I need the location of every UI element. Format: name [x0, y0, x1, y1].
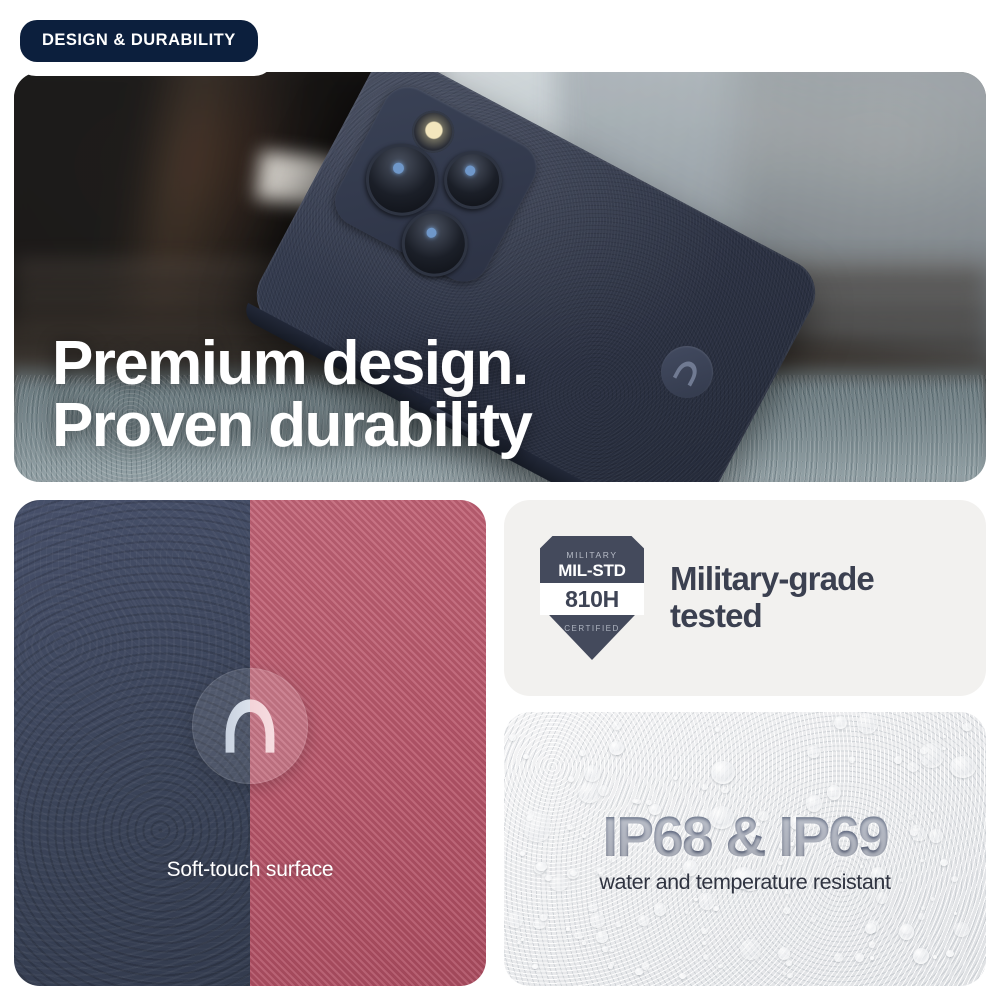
- military-title-line-1: Military-grade: [670, 561, 874, 598]
- military-title-line-2: tested: [670, 598, 874, 635]
- hero-headline: Premium design. Proven durability: [52, 333, 531, 456]
- mil-std-shield-icon: MILITARY MIL-STD 810H CERTIFIED: [540, 536, 644, 660]
- ip-rating-subtitle: water and temperature resistant: [504, 870, 986, 895]
- hero-headline-line-1: Premium design.: [52, 333, 531, 394]
- shield-top-label: MILITARY: [540, 550, 644, 560]
- section-badge: DESIGN & DURABILITY: [20, 20, 258, 62]
- shield-standard-label: MIL-STD: [540, 561, 644, 581]
- hero-headline-line-2: Proven durability: [52, 395, 531, 456]
- motorola-emblem-icon: [192, 668, 308, 784]
- soft-touch-caption: Soft-touch surface: [14, 858, 486, 882]
- camera-lens-tertiary: [434, 141, 512, 219]
- ip-rating-title: IP68 & IP69: [504, 804, 986, 870]
- ip-rating-card: IP68 & IP69 water and temperature resist…: [504, 712, 986, 986]
- military-grade-title: Military-grade tested: [670, 561, 874, 635]
- shield-certified-label: CERTIFIED: [540, 624, 644, 633]
- soft-touch-surface-card: Soft-touch surface: [14, 500, 486, 986]
- shield-revision-label: 810H: [540, 586, 644, 613]
- military-grade-card: MILITARY MIL-STD 810H CERTIFIED Military…: [504, 500, 986, 696]
- section-badge-container: DESIGN & DURABILITY: [14, 14, 276, 76]
- hero-banner: Premium design. Proven durability: [14, 72, 986, 482]
